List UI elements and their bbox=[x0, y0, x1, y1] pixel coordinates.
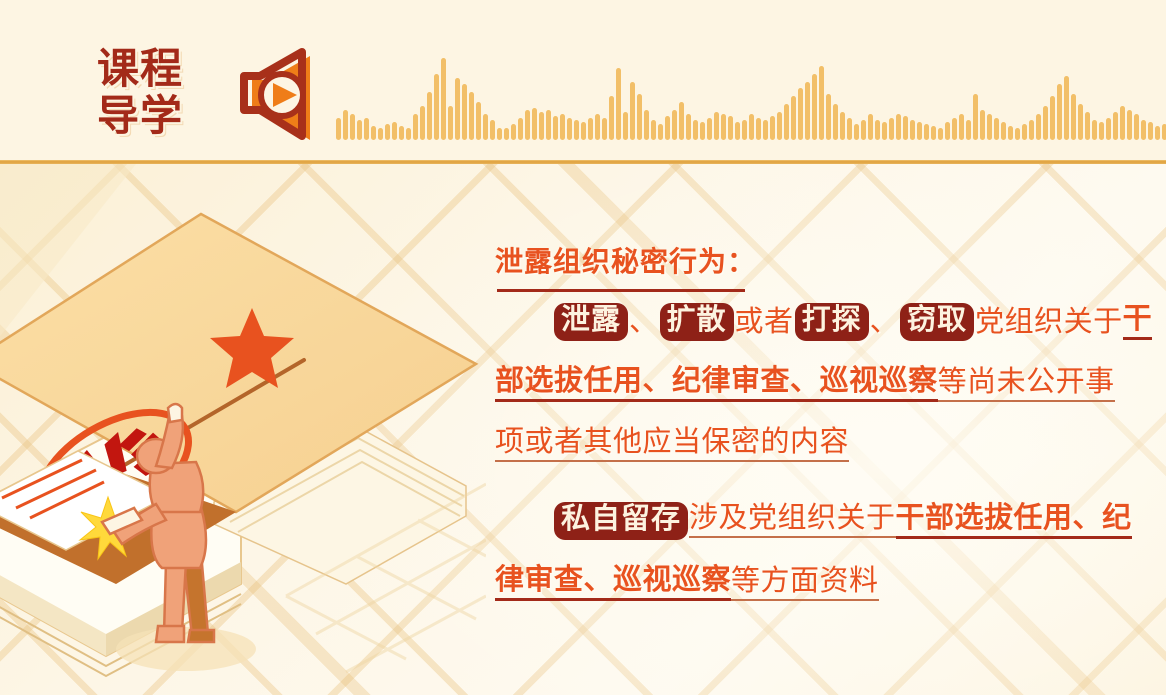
waveform-bar bbox=[1071, 94, 1076, 140]
course-title-line1: 课程 bbox=[97, 46, 215, 92]
waveform-bar bbox=[343, 110, 348, 140]
p2-underlined-lvshencha: 律审查 bbox=[495, 566, 584, 601]
waveform-bar bbox=[336, 118, 341, 140]
waveform-bar bbox=[420, 106, 425, 140]
waveform-bar bbox=[987, 114, 992, 140]
waveform-bar bbox=[490, 120, 495, 140]
p1-sep-a: 、 bbox=[643, 367, 673, 402]
waveform-bar bbox=[483, 114, 488, 140]
waveform-bar bbox=[777, 112, 782, 140]
infographic-page: 课程 导学 bbox=[0, 0, 1166, 695]
waveform-bar bbox=[497, 128, 502, 140]
waveform-bar bbox=[707, 118, 712, 140]
waveform-bar bbox=[511, 124, 516, 140]
waveform-bar bbox=[539, 112, 544, 140]
waveform-bar bbox=[588, 118, 593, 140]
waveform-bar bbox=[567, 118, 572, 140]
waveform-bar bbox=[378, 128, 383, 140]
waveform-bar bbox=[700, 122, 705, 140]
course-title: 课程 导学 bbox=[97, 44, 215, 142]
p2-plain-tail: 等方面资料 bbox=[731, 567, 879, 601]
waveform-bar bbox=[693, 120, 698, 140]
section-heading-underline bbox=[497, 289, 745, 292]
waveform-bar bbox=[602, 118, 607, 140]
waveform-bar bbox=[392, 122, 397, 140]
waveform-bar bbox=[616, 68, 621, 140]
p2-sep-b: 、 bbox=[584, 566, 614, 601]
waveform-bar bbox=[455, 78, 460, 140]
waveform-bar bbox=[1092, 120, 1097, 140]
waveform-bar bbox=[1015, 128, 1020, 140]
waveform-bar bbox=[812, 74, 817, 140]
underlined-xunshixuncha: 巡视巡察 bbox=[820, 367, 938, 402]
waveform-bar bbox=[637, 94, 642, 140]
waveform-bar bbox=[406, 128, 411, 140]
waveform-bar bbox=[665, 116, 670, 140]
waveform-bar bbox=[749, 114, 754, 140]
waveform-bar bbox=[385, 124, 390, 140]
p2-underlined-ji: 纪 bbox=[1102, 504, 1132, 539]
waveform-bar bbox=[945, 122, 950, 140]
waveform-bar bbox=[1078, 104, 1083, 140]
waveform-bar bbox=[350, 114, 355, 140]
badge-siziliucun: 私自留存 bbox=[554, 502, 688, 540]
waveform-bar bbox=[658, 124, 663, 140]
p1-line3-text: 项或者其他应当保密的内容 bbox=[495, 428, 849, 462]
badge-datan: 打探 bbox=[795, 303, 869, 341]
waveform-bar bbox=[1085, 112, 1090, 140]
waveform-bar bbox=[1141, 120, 1146, 140]
waveform-bar bbox=[623, 112, 628, 140]
waveform-bar bbox=[721, 114, 726, 140]
waveform-bar bbox=[476, 102, 481, 140]
waveform-bar bbox=[854, 124, 859, 140]
sep-dun-2: 、 bbox=[870, 308, 900, 337]
waveform-bar bbox=[959, 114, 964, 140]
waveform-bar bbox=[791, 96, 796, 140]
badge-kuosan: 扩散 bbox=[660, 303, 734, 341]
waveform-bar bbox=[574, 120, 579, 140]
paragraph1-line3: 项或者其他应当保密的内容 bbox=[495, 428, 1145, 462]
waveform-bar bbox=[714, 112, 719, 140]
waveform-bar bbox=[1022, 124, 1027, 140]
waveform-bar bbox=[609, 96, 614, 140]
waveform-bar bbox=[532, 108, 537, 140]
waveform-bar bbox=[1099, 122, 1104, 140]
p1-plain-tail: 等尚未公开事 bbox=[938, 368, 1115, 402]
waveform-bar bbox=[910, 120, 915, 140]
waveform-bar bbox=[931, 126, 936, 140]
underlined-jilvshencha: 纪律审查 bbox=[672, 367, 790, 402]
p2-lead: 涉及党组织关于 bbox=[689, 504, 896, 538]
waveform-bar bbox=[441, 58, 446, 140]
waveform-bar bbox=[525, 110, 530, 140]
text-panel: 泄露组织秘密行为： 泄露 、 扩散 或者 打探 、 窃取 党组织关于 干 部选拔… bbox=[495, 249, 1145, 601]
badge-xielou: 泄露 bbox=[554, 303, 628, 341]
waveform-bar bbox=[1162, 124, 1166, 140]
waveform-bar bbox=[1134, 114, 1139, 140]
waveform-bar bbox=[833, 104, 838, 140]
waveform-bar bbox=[434, 74, 439, 140]
waveform-bar bbox=[1050, 96, 1055, 140]
waveform-bar bbox=[518, 118, 523, 140]
waveform-bar bbox=[1127, 110, 1132, 140]
waveform-bar bbox=[903, 116, 908, 140]
waveform-bar bbox=[896, 114, 901, 140]
waveform-bar bbox=[861, 120, 866, 140]
waveform-bar bbox=[399, 126, 404, 140]
p1-sep-b: 、 bbox=[790, 367, 820, 402]
waveform-bar bbox=[581, 122, 586, 140]
content-area: 泄露组织秘密行为： 泄露 、 扩散 或者 打探 、 窃取 党组织关于 干 部选拔… bbox=[0, 164, 1166, 695]
waveform-bar bbox=[679, 102, 684, 140]
section-heading-text: 泄露组织秘密行为： bbox=[495, 247, 756, 278]
waveform-bar bbox=[728, 116, 733, 140]
p2-sep-a: 、 bbox=[1073, 504, 1103, 539]
underlined-ganbuxuanbarenyong: 部选拔任用 bbox=[495, 367, 643, 402]
badge-qiequ: 窃取 bbox=[900, 303, 974, 341]
sep-dun-1: 、 bbox=[629, 308, 659, 337]
waveform-bar bbox=[469, 92, 474, 140]
p2-underlined-ganbuxuanbarenyong: 干部选拔任用 bbox=[896, 504, 1073, 539]
waveform-bar bbox=[462, 84, 467, 140]
paragraph1-line2: 部选拔任用 、 纪律审查 、 巡视巡察 等尚未公开事 bbox=[495, 367, 1145, 402]
waveform-bar bbox=[770, 116, 775, 140]
waveform-bar bbox=[756, 118, 761, 140]
waveform-bar bbox=[357, 120, 362, 140]
waveform-bar bbox=[1148, 122, 1153, 140]
waveform-bar bbox=[875, 120, 880, 140]
waveform-bar bbox=[364, 118, 369, 140]
waveform-bar bbox=[917, 122, 922, 140]
waveform-bar bbox=[882, 122, 887, 140]
waveform-bar bbox=[1036, 114, 1041, 140]
waveform-bar bbox=[546, 110, 551, 140]
waveform-bar bbox=[973, 94, 978, 140]
conj-or: 或者 bbox=[735, 308, 794, 337]
waveform-bar bbox=[1043, 106, 1048, 140]
waveform-bar bbox=[1008, 126, 1013, 140]
waveform-bar bbox=[952, 118, 957, 140]
waveform-bar bbox=[798, 88, 803, 140]
waveform-bar bbox=[1106, 118, 1111, 140]
waveform-bar bbox=[840, 112, 845, 140]
waveform-bar bbox=[868, 114, 873, 140]
waveform-bar bbox=[924, 124, 929, 140]
waveform-bar bbox=[980, 110, 985, 140]
waveform-bar bbox=[595, 114, 600, 140]
waveform-bar bbox=[427, 92, 432, 140]
waveform-bar bbox=[672, 110, 677, 140]
waveform-bar bbox=[847, 118, 852, 140]
header-bar: 课程 导学 bbox=[0, 0, 1166, 164]
waveform-bar bbox=[1064, 76, 1069, 140]
waveform-bar bbox=[1001, 122, 1006, 140]
waveform-bar bbox=[938, 128, 943, 140]
p1-underlined-start: 干 bbox=[1123, 305, 1153, 340]
waveform-bar bbox=[553, 116, 558, 140]
waveform-bar bbox=[826, 94, 831, 140]
waveform-bar bbox=[966, 120, 971, 140]
waveform-bar bbox=[735, 122, 740, 140]
waveform-bar bbox=[1120, 106, 1125, 140]
megaphone-play-icon bbox=[228, 48, 328, 142]
p1-tail: 党组织关于 bbox=[975, 308, 1123, 337]
waveform-bar bbox=[1029, 120, 1034, 140]
course-title-line2: 导学 bbox=[97, 92, 215, 140]
p2-underlined-xunshixuncha: 巡视巡察 bbox=[613, 566, 731, 601]
paragraph1-line1: 泄露 、 扩散 或者 打探 、 窃取 党组织关于 干 bbox=[495, 303, 1145, 341]
waveform-bar bbox=[644, 110, 649, 140]
waveform-bar bbox=[763, 120, 768, 140]
waveform-bar bbox=[1057, 84, 1062, 140]
waveform-bar bbox=[686, 114, 691, 140]
waveform-bar bbox=[371, 126, 376, 140]
waveform-bar bbox=[448, 106, 453, 140]
waveform-bar bbox=[1155, 126, 1160, 140]
audio-waveform bbox=[336, 18, 1154, 140]
waveform-bar bbox=[504, 128, 509, 140]
waveform-bar bbox=[889, 118, 894, 140]
waveform-bar bbox=[413, 114, 418, 140]
waveform-bar bbox=[630, 82, 635, 140]
waveform-bar bbox=[560, 114, 565, 140]
isometric-confidential-document-illustration bbox=[0, 164, 486, 695]
waveform-bar bbox=[742, 120, 747, 140]
waveform-bar bbox=[1113, 112, 1118, 140]
paragraph2-line2: 律审查 、 巡视巡察 等方面资料 bbox=[495, 566, 1145, 601]
waveform-bar bbox=[805, 82, 810, 140]
waveform-bar bbox=[784, 104, 789, 140]
waveform-bar bbox=[994, 118, 999, 140]
section-heading: 泄露组织秘密行为： bbox=[495, 249, 1145, 277]
waveform-bar bbox=[651, 120, 656, 140]
paragraph2-line1: 私自留存 涉及党组织关于 干部选拔任用 、 纪 bbox=[495, 502, 1145, 540]
waveform-bar bbox=[819, 66, 824, 140]
